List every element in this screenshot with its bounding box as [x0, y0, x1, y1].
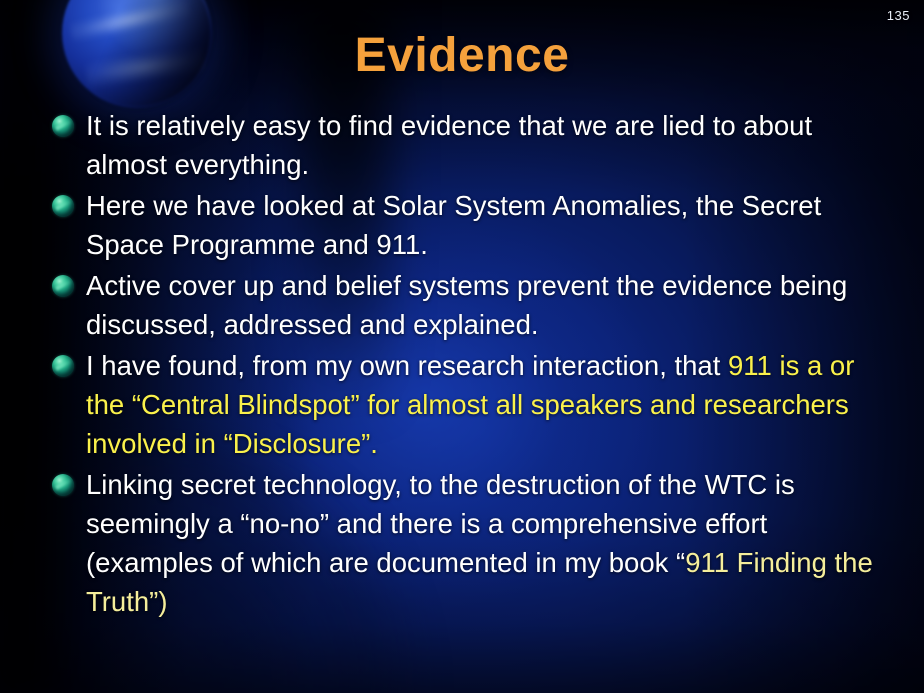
list-item: Active cover up and belief systems preve…	[52, 266, 890, 344]
bullet-text-1: It is relatively easy to find evidence t…	[86, 106, 890, 184]
list-item: I have found, from my own research inter…	[52, 346, 890, 463]
green-sphere-bullet-icon	[52, 195, 74, 217]
green-sphere-bullet-icon	[52, 355, 74, 377]
bullet-text-5: Linking secret technology, to the destru…	[86, 465, 890, 621]
bullet-3-segment-1: Active cover up and belief systems preve…	[86, 270, 847, 340]
page-title: Evidence	[0, 28, 924, 83]
bullet-list: It is relatively easy to find evidence t…	[52, 106, 890, 623]
bullet-text-4: I have found, from my own research inter…	[86, 346, 890, 463]
presentation-slide: 135 Evidence It is relatively easy to fi…	[0, 0, 924, 693]
green-sphere-bullet-icon	[52, 275, 74, 297]
green-sphere-bullet-icon	[52, 115, 74, 137]
bullet-2-segment-1: Here we have looked at Solar System Anom…	[86, 190, 821, 260]
list-item: Linking secret technology, to the destru…	[52, 465, 890, 621]
list-item: It is relatively easy to find evidence t…	[52, 106, 890, 184]
bullet-4-segment-1: I have found, from my own research inter…	[86, 350, 728, 381]
bullet-1-segment-1: It is relatively easy to find evidence t…	[86, 110, 812, 180]
green-sphere-bullet-icon	[52, 474, 74, 496]
list-item: Here we have looked at Solar System Anom…	[52, 186, 890, 264]
bullet-text-2: Here we have looked at Solar System Anom…	[86, 186, 890, 264]
page-number: 135	[887, 8, 910, 23]
bullet-text-3: Active cover up and belief systems preve…	[86, 266, 890, 344]
